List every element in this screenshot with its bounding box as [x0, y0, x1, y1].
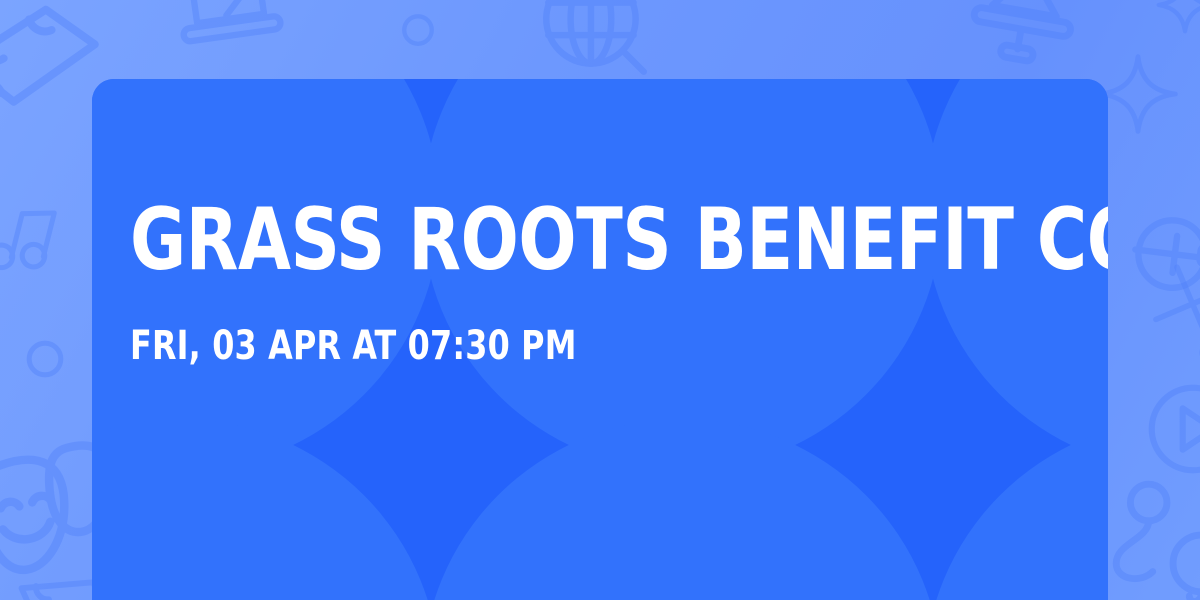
- play-circle-icon: [1138, 374, 1200, 484]
- card-content: Grass Roots Benefit Concert Fri, 03 Apr …: [92, 79, 1108, 366]
- decorative-circle: [924, 419, 1108, 600]
- music-note-icon: [0, 186, 82, 295]
- event-title: Grass Roots Benefit Concert: [130, 201, 996, 280]
- laptop-icon: [160, 0, 296, 68]
- decorative-circle: [92, 419, 440, 600]
- scissors-icon: [1131, 247, 1200, 377]
- ring-icon: [398, 10, 438, 50]
- microphone-icon: [1104, 172, 1200, 340]
- decorative-circle: [422, 419, 942, 600]
- event-card: Grass Roots Benefit Concert Fri, 03 Apr …: [92, 79, 1108, 600]
- balloon-icon: [1104, 470, 1200, 600]
- podium-icon: [950, 0, 1101, 82]
- event-datetime: Fri, 03 Apr at 07:30 PM: [130, 326, 996, 366]
- ring-icon: [22, 336, 68, 382]
- sparkle-icon: [1150, 0, 1200, 40]
- event-poster: Grass Roots Benefit Concert Fri, 03 Apr …: [0, 0, 1200, 600]
